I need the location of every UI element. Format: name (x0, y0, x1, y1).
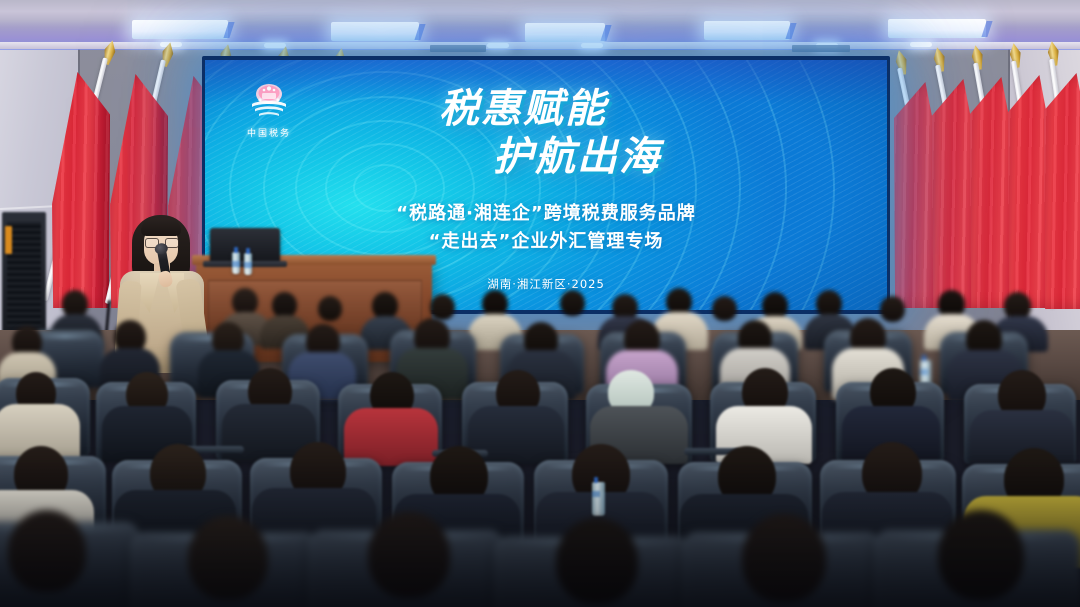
water-bottle (244, 253, 252, 275)
flag-cloth (1044, 73, 1080, 309)
ceiling-light-panel (704, 21, 790, 40)
water-bottle (592, 482, 605, 516)
attendee-head (742, 514, 826, 602)
attendee-head (430, 294, 455, 320)
speaker-badge (5, 226, 12, 254)
ceiling-light-panel (331, 22, 419, 41)
attendee-head (188, 516, 268, 600)
presenter-fringe (141, 218, 181, 236)
audience-seating (0, 286, 1080, 607)
attendee-head (880, 296, 905, 322)
ceiling-air-vent (792, 45, 850, 52)
attendee-head (318, 296, 342, 321)
attendee-head (232, 288, 258, 315)
water-bottle (232, 252, 240, 274)
ceiling-light-panel (888, 19, 986, 38)
attendee-head (560, 290, 585, 316)
ceiling-downlight (581, 43, 603, 48)
attendee-head (368, 512, 450, 598)
attendee-head (712, 296, 737, 321)
attendee-head (762, 292, 788, 319)
conference-hall-photo: 中国税务 税惠赋能 护航出海 “税路通·湘连企”跨境税费服务品牌 “走出去”企业… (0, 0, 1080, 607)
attendee-head (556, 518, 638, 604)
ceiling-air-vent (430, 45, 486, 52)
attendee-head (816, 290, 842, 317)
ceiling-downlight (487, 43, 509, 48)
attendee-head (482, 290, 508, 317)
attendee-head (938, 510, 1024, 600)
ceiling-light-panel (525, 23, 605, 42)
ceiling-downlight (264, 43, 286, 48)
attendee-head (8, 510, 86, 592)
attendee-head (372, 292, 398, 319)
attendee-head (666, 288, 692, 315)
ceiling-downlight (910, 42, 932, 47)
ceiling-light-panel (132, 20, 228, 39)
